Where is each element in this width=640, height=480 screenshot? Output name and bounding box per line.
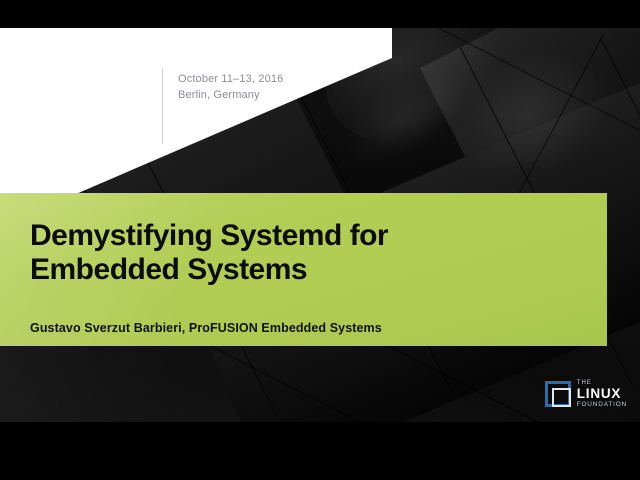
lf-foundation-text: FOUNDATION [577, 402, 627, 408]
letterbox-top [0, 0, 640, 28]
video-frame: Embedded Linux Conference OpenIoTSummit … [0, 0, 640, 480]
letterbox-bottom [0, 422, 640, 480]
event-dates: October 11–13, 2016 [178, 72, 283, 88]
page-title: Demystifying Systemd for Embedded System… [30, 219, 570, 287]
title-banner: Demystifying Systemd for Embedded System… [0, 193, 607, 346]
lf-inner-square [552, 388, 571, 407]
page-title-line2: Embedded Systems [30, 253, 570, 287]
lf-linux-text: LINUX [577, 387, 627, 401]
presenter-subtitle: Gustavo Sverzut Barbieri, ProFUSION Embe… [30, 321, 575, 335]
linux-foundation-logo: THE LINUX FOUNDATION [545, 380, 627, 408]
page-title-line1: Demystifying Systemd for [30, 219, 570, 253]
linux-foundation-wordmark: THE LINUX FOUNDATION [577, 380, 627, 408]
linux-foundation-square-icon [545, 381, 571, 407]
event-meta: October 11–13, 2016 Berlin, Germany [178, 72, 283, 104]
event-location: Berlin, Germany [178, 88, 283, 104]
presentation-slide: Embedded Linux Conference OpenIoTSummit … [0, 28, 640, 422]
header-divider [162, 68, 163, 144]
